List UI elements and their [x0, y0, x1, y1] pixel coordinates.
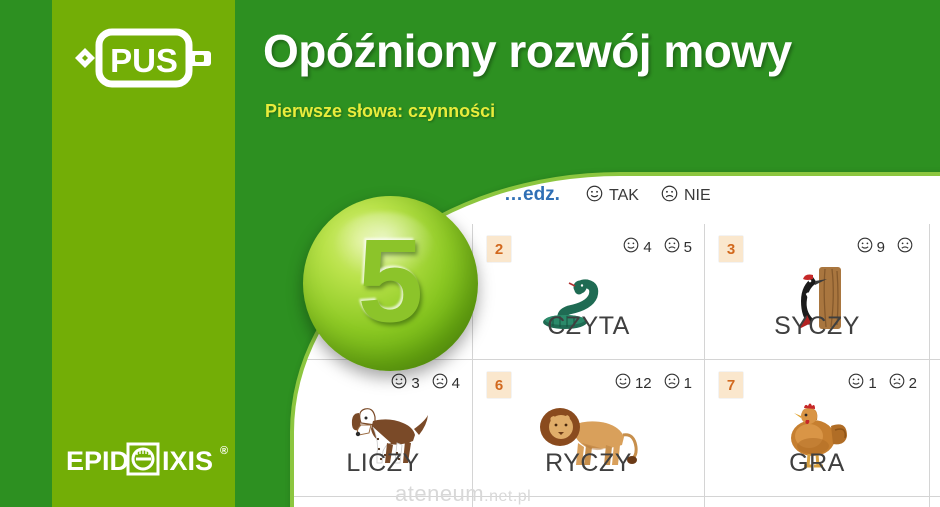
- smiley-sad-icon: [664, 237, 680, 257]
- answer-counts: 9: [857, 237, 917, 257]
- yes-count-group: 1: [848, 373, 876, 393]
- no-count-value: 5: [684, 239, 692, 256]
- answer-counts: 1 2: [848, 373, 917, 393]
- exercise-cell[interactable]: 3 4: [294, 360, 472, 496]
- smiley-sad-icon: [432, 373, 448, 393]
- exercise-word: SYCZY: [705, 312, 929, 341]
- answer-counts: 12 1: [615, 373, 692, 393]
- exercise-number-badge: 3: [719, 236, 743, 262]
- no-count-group: 2: [889, 373, 917, 393]
- legend-item-nie: NIE: [661, 185, 711, 207]
- no-count-group: 4: [432, 373, 460, 393]
- smiley-happy-icon: [391, 373, 407, 393]
- smiley-sad-icon: [897, 237, 913, 257]
- exercise-word: GRA: [705, 449, 929, 478]
- grid-line-horizontal: [294, 496, 940, 497]
- exercise-cell[interactable]: 3 9: [705, 224, 929, 359]
- legend-label-tak: TAK: [609, 187, 639, 205]
- smiley-happy-icon: [615, 373, 631, 393]
- no-count-group: 5: [664, 237, 692, 257]
- yes-count-group: 12: [615, 373, 652, 393]
- exercise-number-badge: 2: [487, 236, 511, 262]
- exercise-word: LICZY: [294, 449, 472, 478]
- legend-label-nie: NIE: [684, 187, 711, 205]
- exercise-number-badge: 6: [487, 372, 511, 398]
- answer-hint-text: …edz.: [504, 184, 560, 206]
- smiley-happy-icon: [848, 373, 864, 393]
- no-count-value: 1: [684, 375, 692, 392]
- smiley-sad-icon: [664, 373, 680, 393]
- registered-mark: ®: [220, 445, 228, 457]
- smiley-happy-icon: [623, 237, 639, 257]
- smiley-sad-icon: [661, 185, 678, 207]
- chapter-number: 5: [303, 222, 478, 340]
- no-count-value: 4: [452, 375, 460, 392]
- page-subtitle: Pierwsze słowa: czynności: [265, 101, 495, 122]
- epideixis-logo: EPID IXIS ®: [66, 438, 236, 484]
- background-band-dark: [0, 0, 52, 507]
- answer-counts: 3 4: [391, 373, 460, 393]
- legend-tak-nie: TAK NIE: [586, 185, 711, 207]
- pus-logo-icon: PUS: [75, 22, 215, 98]
- exercise-word: RYCZY: [473, 449, 704, 478]
- yes-count-value: 9: [877, 239, 885, 256]
- chapter-number-ball: 5: [303, 196, 478, 371]
- yes-count-value: 4: [643, 239, 651, 256]
- yes-count-group: 4: [623, 237, 651, 257]
- yes-count-value: 1: [868, 375, 876, 392]
- exercise-number-badge: 7: [719, 372, 743, 398]
- legend-item-tak: TAK: [586, 185, 639, 207]
- epideixis-part-2: IXIS: [162, 446, 213, 476]
- no-count-value: 2: [909, 375, 917, 392]
- exercise-cell[interactable]: 7 1: [705, 360, 929, 496]
- no-count-group: 1: [664, 373, 692, 393]
- exercise-cell[interactable]: 2 4: [473, 224, 704, 359]
- pus-logo-text: PUS: [110, 42, 178, 79]
- yes-count-value: 12: [635, 375, 652, 392]
- smiley-happy-icon: [857, 237, 873, 257]
- page-title: Opóźniony rozwój mowy: [263, 24, 792, 78]
- answer-counts: 4 5: [623, 237, 692, 257]
- yes-count-value: 3: [411, 375, 419, 392]
- yes-count-group: 3: [391, 373, 419, 393]
- grid-line-vertical: [929, 224, 930, 507]
- no-count-group: [897, 237, 917, 257]
- yes-count-group: 9: [857, 237, 885, 257]
- book-cover: PUS Opóźniony rozwój mowy Pierwsze słowa…: [0, 0, 940, 507]
- epideixis-part-1: EPID: [66, 446, 129, 476]
- exercise-word: CZYTA: [473, 312, 704, 341]
- smiley-happy-icon: [586, 185, 603, 207]
- exercise-cell[interactable]: 6 12: [473, 360, 704, 496]
- smiley-sad-icon: [889, 373, 905, 393]
